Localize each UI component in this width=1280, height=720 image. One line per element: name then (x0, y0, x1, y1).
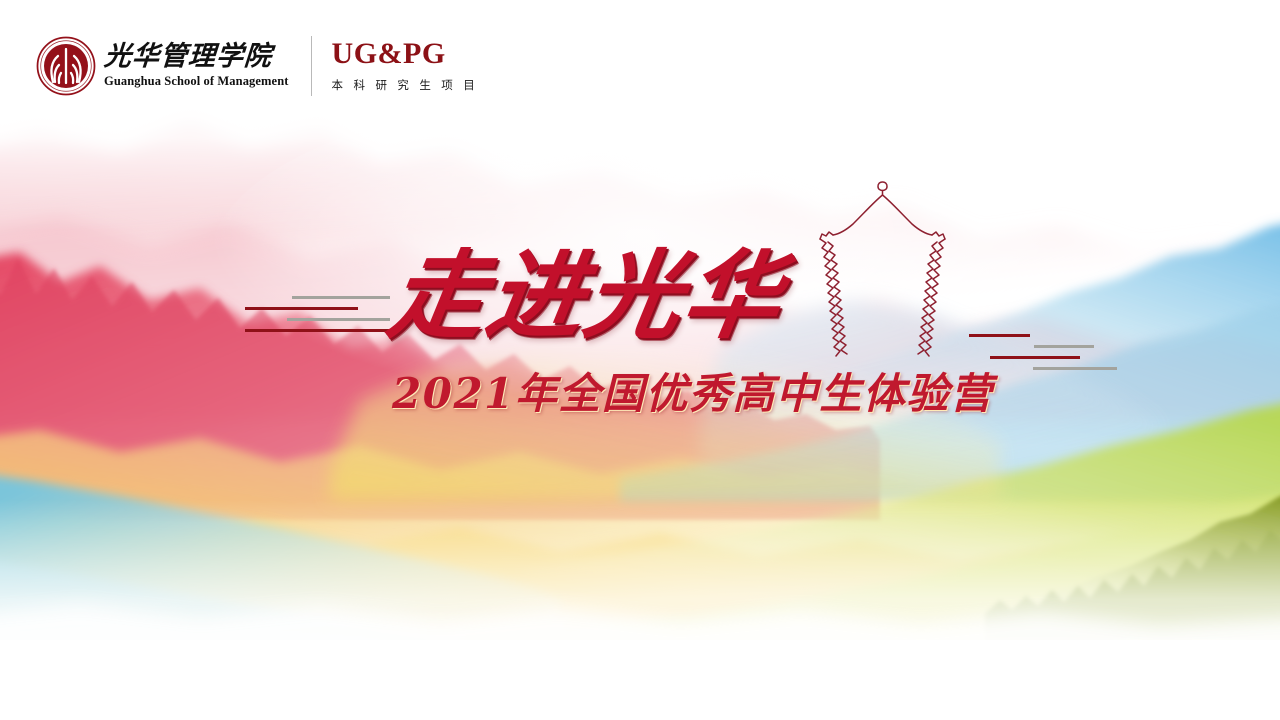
peking-university-seal-icon (36, 36, 96, 96)
program-code: UG&PG (332, 39, 479, 69)
school-name-en: Guanghua School of Management (104, 74, 289, 89)
title-slide: 光华管理学院 Guanghua School of Management UG&… (0, 0, 1280, 720)
decor-line (969, 334, 1030, 337)
decor-lines-left (245, 296, 390, 340)
program-name-cn: 本 科 研 究 生 项 目 (332, 77, 479, 93)
school-name-block: 光华管理学院 Guanghua School of Management (104, 43, 289, 89)
page-title: 走进光华 (382, 248, 789, 344)
decor-lines-right (962, 334, 1117, 380)
program-block: UG&PG 本 科 研 究 生 项 目 (332, 39, 479, 93)
decor-line (292, 296, 390, 299)
decor-line (1034, 345, 1094, 348)
brand-logo-bar: 光华管理学院 Guanghua School of Management UG&… (36, 28, 478, 104)
decor-line (245, 329, 390, 332)
decor-line (287, 318, 390, 321)
boya-pagoda-icon (795, 176, 970, 361)
school-name-cn: 光华管理学院 (103, 43, 290, 71)
decor-line (990, 356, 1080, 359)
page-subtitle: 2021年全国优秀高中生体验营 (392, 373, 993, 415)
logo-divider (311, 36, 312, 96)
decor-line (1033, 367, 1117, 370)
decor-line (245, 307, 358, 310)
